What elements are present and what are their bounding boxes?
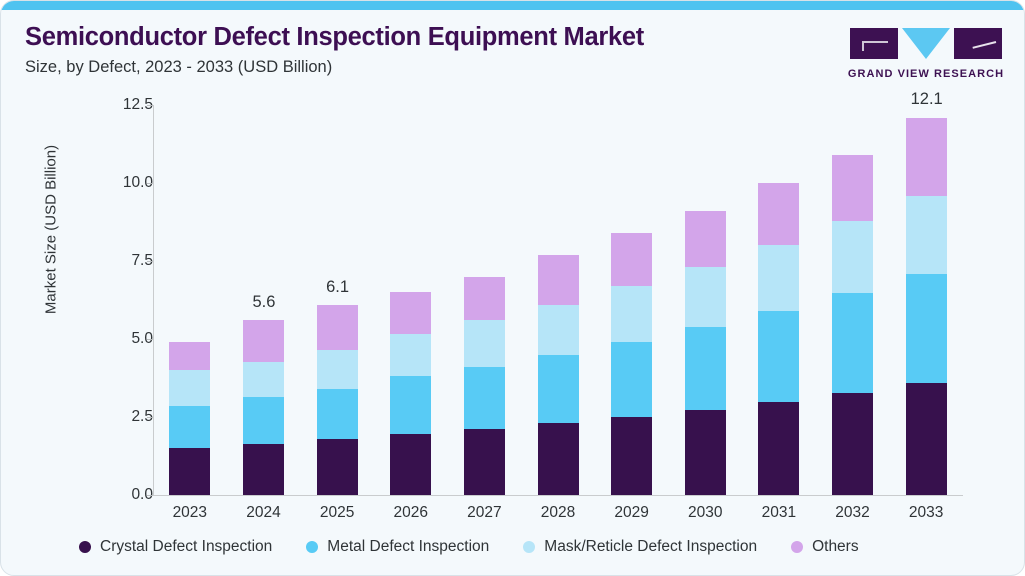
plot-area: Market Size (USD Billion) 0.02.55.07.510… bbox=[1, 1, 1025, 576]
x-tick-label-2023: 2023 bbox=[153, 504, 227, 522]
y-tick-mark bbox=[147, 183, 153, 184]
y-tick-label: 7.5 bbox=[97, 252, 153, 270]
bar-segment[interactable] bbox=[243, 444, 284, 495]
bar-segment[interactable] bbox=[758, 245, 799, 311]
bar-segment[interactable] bbox=[685, 327, 726, 411]
bar-total-label-2024: 5.6 bbox=[226, 293, 301, 312]
legend-label: Metal Defect Inspection bbox=[327, 538, 489, 556]
legend-label: Others bbox=[812, 538, 859, 556]
bar-segment[interactable] bbox=[243, 397, 284, 444]
x-tick-label-2028: 2028 bbox=[521, 504, 595, 522]
bar-segment[interactable] bbox=[464, 277, 505, 321]
bar-segment[interactable] bbox=[464, 320, 505, 367]
y-tick-label: 0.0 bbox=[97, 486, 153, 504]
x-tick-label-2024: 2024 bbox=[226, 504, 300, 522]
bar-2027[interactable] bbox=[464, 277, 505, 495]
y-tick: 10.0 bbox=[85, 183, 153, 184]
legend-swatch-icon bbox=[79, 541, 91, 553]
bar-2030[interactable] bbox=[685, 211, 726, 495]
bar-segment[interactable] bbox=[685, 267, 726, 326]
x-tick-label-2026: 2026 bbox=[374, 504, 448, 522]
x-tick-label-2033: 2033 bbox=[889, 504, 963, 522]
bar-segment[interactable] bbox=[611, 342, 652, 417]
bar-segment[interactable] bbox=[464, 429, 505, 495]
bar-segment[interactable] bbox=[538, 423, 579, 495]
bar-segment[interactable] bbox=[390, 334, 431, 376]
bar-segment[interactable] bbox=[906, 274, 947, 383]
legend-swatch-icon bbox=[523, 541, 535, 553]
bar-2028[interactable] bbox=[538, 255, 579, 495]
bar-2024[interactable] bbox=[243, 320, 284, 495]
bar-segment[interactable] bbox=[685, 410, 726, 495]
bar-2031[interactable] bbox=[758, 183, 799, 495]
legend-label: Crystal Defect Inspection bbox=[100, 538, 272, 556]
chart-legend: Crystal Defect InspectionMetal Defect In… bbox=[79, 538, 859, 556]
bar-segment[interactable] bbox=[317, 350, 358, 389]
bar-2033[interactable] bbox=[906, 118, 947, 496]
legend-item[interactable]: Metal Defect Inspection bbox=[306, 538, 489, 556]
bar-segment[interactable] bbox=[832, 393, 873, 495]
bar-segment[interactable] bbox=[390, 292, 431, 334]
bar-2026[interactable] bbox=[390, 292, 431, 495]
legend-item[interactable]: Mask/Reticle Defect Inspection bbox=[523, 538, 757, 556]
legend-label: Mask/Reticle Defect Inspection bbox=[544, 538, 757, 556]
bar-2029[interactable] bbox=[611, 233, 652, 495]
bar-segment[interactable] bbox=[390, 376, 431, 434]
bar-segment[interactable] bbox=[758, 183, 799, 245]
bar-segment[interactable] bbox=[317, 389, 358, 439]
legend-swatch-icon bbox=[306, 541, 318, 553]
y-tick-mark bbox=[147, 105, 153, 106]
y-tick-mark bbox=[147, 417, 153, 418]
bar-segment[interactable] bbox=[685, 211, 726, 267]
y-tick: 0.0 bbox=[85, 495, 153, 496]
y-tick: 5.0 bbox=[85, 339, 153, 340]
y-tick-mark bbox=[147, 495, 153, 496]
bar-segment[interactable] bbox=[243, 320, 284, 362]
bar-segment[interactable] bbox=[611, 417, 652, 495]
bar-total-label-2025: 6.1 bbox=[300, 278, 375, 297]
bar-segment[interactable] bbox=[169, 448, 210, 495]
x-tick-label-2029: 2029 bbox=[595, 504, 669, 522]
y-axis-line bbox=[153, 105, 154, 496]
bar-segment[interactable] bbox=[317, 305, 358, 350]
bar-segment[interactable] bbox=[538, 355, 579, 424]
bar-segment[interactable] bbox=[832, 293, 873, 393]
bar-segment[interactable] bbox=[906, 196, 947, 274]
y-tick-label: 5.0 bbox=[97, 330, 153, 348]
y-tick-label: 12.5 bbox=[97, 96, 153, 114]
bar-segment[interactable] bbox=[611, 233, 652, 286]
bar-segment[interactable] bbox=[832, 221, 873, 293]
x-tick-label-2027: 2027 bbox=[447, 504, 521, 522]
y-tick: 12.5 bbox=[85, 105, 153, 106]
y-tick: 7.5 bbox=[85, 261, 153, 262]
bar-segment[interactable] bbox=[169, 342, 210, 370]
x-tick-label-2032: 2032 bbox=[816, 504, 890, 522]
bar-segment[interactable] bbox=[169, 406, 210, 448]
x-axis-line bbox=[153, 495, 963, 496]
bar-segment[interactable] bbox=[611, 286, 652, 342]
bar-segment[interactable] bbox=[390, 434, 431, 495]
y-tick: 2.5 bbox=[85, 417, 153, 418]
bar-segment[interactable] bbox=[906, 383, 947, 495]
bar-segment[interactable] bbox=[758, 402, 799, 495]
y-axis-title: Market Size (USD Billion) bbox=[43, 100, 60, 360]
x-tick-label-2031: 2031 bbox=[742, 504, 816, 522]
y-tick-mark bbox=[147, 339, 153, 340]
bar-total-label-2033: 12.1 bbox=[889, 90, 964, 109]
bar-segment[interactable] bbox=[169, 370, 210, 406]
bar-segment[interactable] bbox=[538, 255, 579, 305]
bar-segment[interactable] bbox=[317, 439, 358, 495]
x-tick-label-2030: 2030 bbox=[668, 504, 742, 522]
bar-segment[interactable] bbox=[464, 367, 505, 429]
bar-segment[interactable] bbox=[906, 118, 947, 196]
legend-item[interactable]: Crystal Defect Inspection bbox=[79, 538, 272, 556]
bar-segment[interactable] bbox=[538, 305, 579, 355]
bar-2023[interactable] bbox=[169, 342, 210, 495]
y-tick-label: 2.5 bbox=[97, 408, 153, 426]
legend-item[interactable]: Others bbox=[791, 538, 859, 556]
y-tick-mark bbox=[147, 261, 153, 262]
y-tick-label: 10.0 bbox=[97, 174, 153, 192]
bar-2032[interactable] bbox=[832, 155, 873, 495]
legend-swatch-icon bbox=[791, 541, 803, 553]
x-tick-label-2025: 2025 bbox=[300, 504, 374, 522]
bar-segment[interactable] bbox=[832, 155, 873, 221]
bar-segment[interactable] bbox=[758, 311, 799, 402]
chart-card: Semiconductor Defect Inspection Equipmen… bbox=[0, 0, 1025, 576]
bar-segment[interactable] bbox=[243, 362, 284, 396]
bar-2025[interactable] bbox=[317, 305, 358, 495]
